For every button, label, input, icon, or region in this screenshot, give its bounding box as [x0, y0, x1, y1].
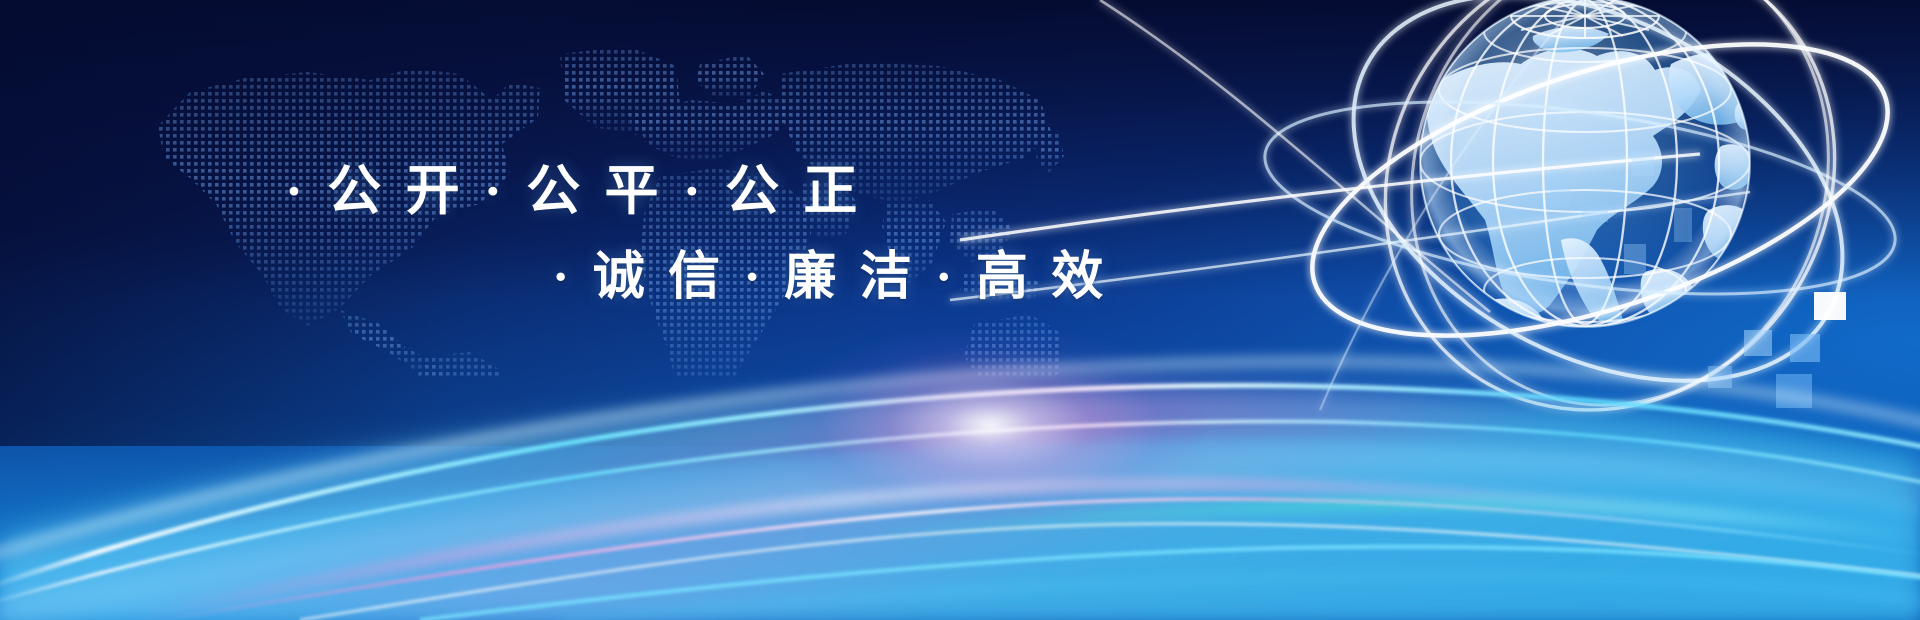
slogan-line-2: · 诚 信 · 廉 洁 · 高 效 [552, 234, 1108, 309]
slogan-line-1: · 公 开 · 公 平 · 公 正 [285, 146, 863, 225]
slogan-block: · 公 开 · 公 平 · 公 正 · 诚 信 · 廉 洁 · 高 效 [0, 0, 1920, 620]
banner-canvas: · 公 开 · 公 平 · 公 正 · 诚 信 · 廉 洁 · 高 效 [0, 0, 1920, 620]
